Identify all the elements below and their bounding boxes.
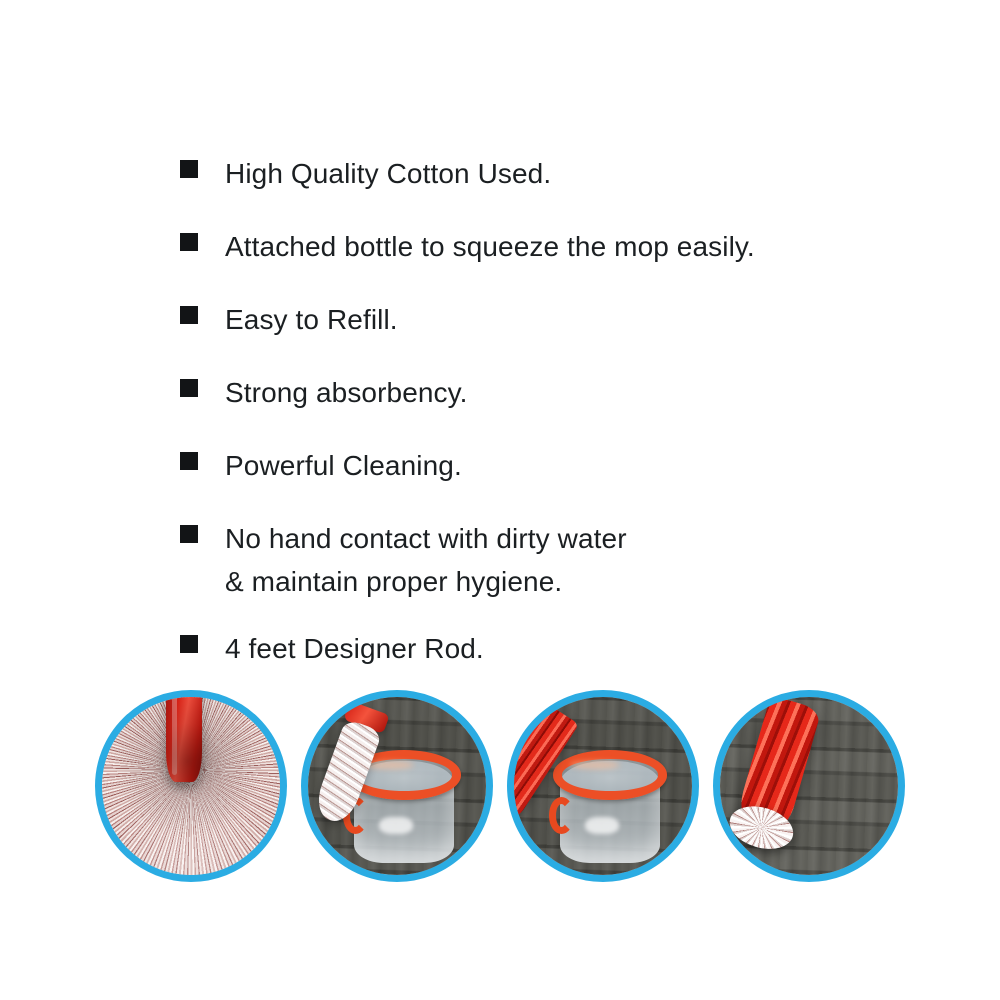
list-item: Strong absorbency.: [180, 371, 880, 414]
product-thumbnail-gallery: [95, 690, 905, 886]
photo-mop-rod-on-bucket: [514, 697, 692, 875]
list-item: Easy to Refill.: [180, 298, 880, 341]
feature-label: Strong absorbency.: [225, 371, 468, 414]
feature-label: No hand contact with dirty water & maint…: [225, 517, 627, 603]
feature-label: 4 feet Designer Rod.: [225, 627, 484, 670]
bullet-square-icon: [180, 452, 198, 470]
feature-label: Powerful Cleaning.: [225, 444, 462, 487]
thumbnail-mop-cover-on-floor: [713, 690, 905, 882]
list-item: No hand contact with dirty water & maint…: [180, 517, 880, 603]
bucket-handle: [549, 797, 574, 833]
thumbnail-mop-head-closeup: [95, 690, 287, 882]
feature-label: High Quality Cotton Used.: [225, 152, 551, 195]
bullet-square-icon: [180, 525, 198, 543]
bucket-highlight: [585, 817, 619, 834]
bullet-square-icon: [180, 160, 198, 178]
bullet-square-icon: [180, 379, 198, 397]
list-item: Attached bottle to squeeze the mop easil…: [180, 225, 880, 268]
feature-label: Easy to Refill.: [225, 298, 398, 341]
bucket-rim: [553, 750, 667, 799]
product-feature-graphic: High Quality Cotton Used. Attached bottl…: [0, 0, 1000, 1000]
thumbnail-mop-rod-on-bucket: [507, 690, 699, 882]
bucket: [553, 750, 667, 857]
bucket-highlight: [379, 817, 413, 834]
feature-bullet-list: High Quality Cotton Used. Attached bottl…: [180, 152, 880, 700]
thumbnail-mop-in-bucket-white: [301, 690, 493, 882]
photo-mop-in-bucket-white: [308, 697, 486, 875]
photo-shading: [102, 697, 280, 875]
list-item: Powerful Cleaning.: [180, 444, 880, 487]
bullet-square-icon: [180, 635, 198, 653]
list-item: High Quality Cotton Used.: [180, 152, 880, 195]
bullet-square-icon: [180, 233, 198, 251]
list-item: 4 feet Designer Rod.: [180, 627, 880, 670]
feature-label: Attached bottle to squeeze the mop easil…: [225, 225, 755, 268]
bullet-square-icon: [180, 306, 198, 324]
photo-mop-head-closeup: [102, 697, 280, 875]
photo-mop-cover-on-floor: [720, 697, 898, 875]
